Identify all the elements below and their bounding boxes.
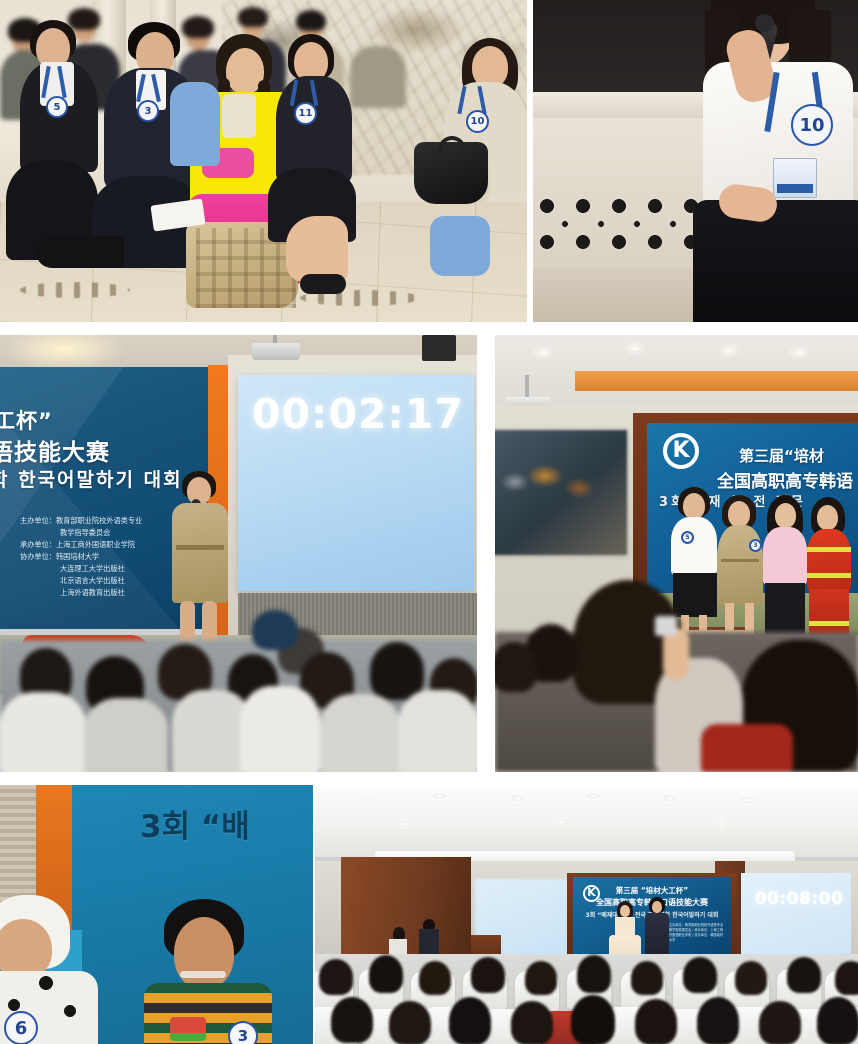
red-chair: [701, 724, 793, 772]
right-projection-screen: [741, 873, 851, 961]
ceiling-light: [433, 793, 446, 799]
panel-skit-performers[interactable]: 3회 “배 6 3: [0, 785, 313, 1044]
watermelon-rind: [170, 1033, 206, 1041]
banner-line-1: 第三届“培材: [739, 445, 824, 466]
skirt: [693, 200, 858, 322]
chair: [430, 216, 490, 276]
countdown-timer: 00:02:17: [252, 390, 476, 438]
photo-collage: 5 3: [0, 0, 858, 1044]
ceiling: [495, 335, 858, 405]
ceiling-light-glow: [4, 335, 124, 371]
panel-speaker-microphone[interactable]: 10: [533, 0, 858, 322]
ceiling-light: [511, 795, 524, 801]
performer-badge-6: 6: [4, 1011, 38, 1044]
side-projection-screen: [495, 430, 627, 555]
contestant-badge-10: 10: [791, 104, 833, 146]
contestant-badge-10: 10: [466, 110, 489, 133]
panel-group-contestants[interactable]: 第三届“培材 全国高职高专韩语 3회 배재 공 전 전문 5年 5: [495, 335, 858, 772]
contestant-badge: 5: [681, 531, 694, 544]
floor-ornament: [20, 282, 130, 298]
audience-foreground: [495, 632, 858, 772]
projector-icon: [252, 343, 300, 360]
panel-auditorium-wide[interactable]: 00:08:00 第三届 “培材大工杯” 全国高职高专韩语口语技能大赛 3회 “…: [315, 785, 858, 1044]
ceiling-light: [627, 345, 643, 352]
banner-organizers: 主办单位：教育部职业院校外语类专业教学指导委员会 / 承办单位：上海工商外国语职…: [669, 923, 725, 943]
ceiling-light: [663, 795, 676, 801]
ceiling-light: [715, 821, 728, 827]
ceiling-light: [535, 349, 551, 356]
phone: [655, 616, 677, 636]
k-logo-icon: [663, 433, 699, 469]
banner-line-1: 第三届 “培材大工杯”: [573, 885, 731, 896]
ceiling-light: [791, 349, 807, 356]
speaker-box-icon: [422, 335, 456, 361]
skirt: [673, 573, 717, 617]
banner-line-1: 工杯”: [0, 405, 53, 435]
contestant-badge: 3: [137, 100, 159, 122]
audience-backs: [0, 640, 477, 772]
coat-belt: [176, 545, 224, 550]
banner-line-2: 语技能大赛: [0, 433, 110, 467]
ceiling-light: [741, 797, 754, 803]
contestant-badge: 3: [749, 539, 762, 552]
banner-line-2: 全国高职高专韩语: [717, 467, 853, 492]
chair: [170, 82, 220, 166]
banner-line-3-korean: 학 한국어말하기 대회: [0, 465, 183, 492]
panel-stage-banner-timer[interactable]: 工杯” 语技能大赛 학 한국어말하기 대회 主办单位：教育部职业院校外语类专业 …: [0, 335, 477, 772]
performer-badge: 3: [228, 1021, 258, 1044]
ceiling-light: [555, 819, 568, 825]
countdown-timer: 00:08:00: [747, 889, 851, 909]
ceiling-light: [361, 797, 374, 803]
contestant-badge: 5: [46, 96, 68, 118]
panel-audience-seated[interactable]: 5 3: [0, 0, 527, 322]
headset-mic: [180, 971, 226, 978]
id-card-strip: [777, 184, 813, 193]
contestant-badge-11: 11: [294, 102, 317, 125]
ceiling-light: [397, 821, 410, 827]
ceiling-light: [587, 793, 600, 799]
ceiling-light: [721, 347, 737, 354]
ceiling-orange-band: [575, 371, 858, 391]
banner-korean-text: 3회 “배: [140, 801, 250, 846]
